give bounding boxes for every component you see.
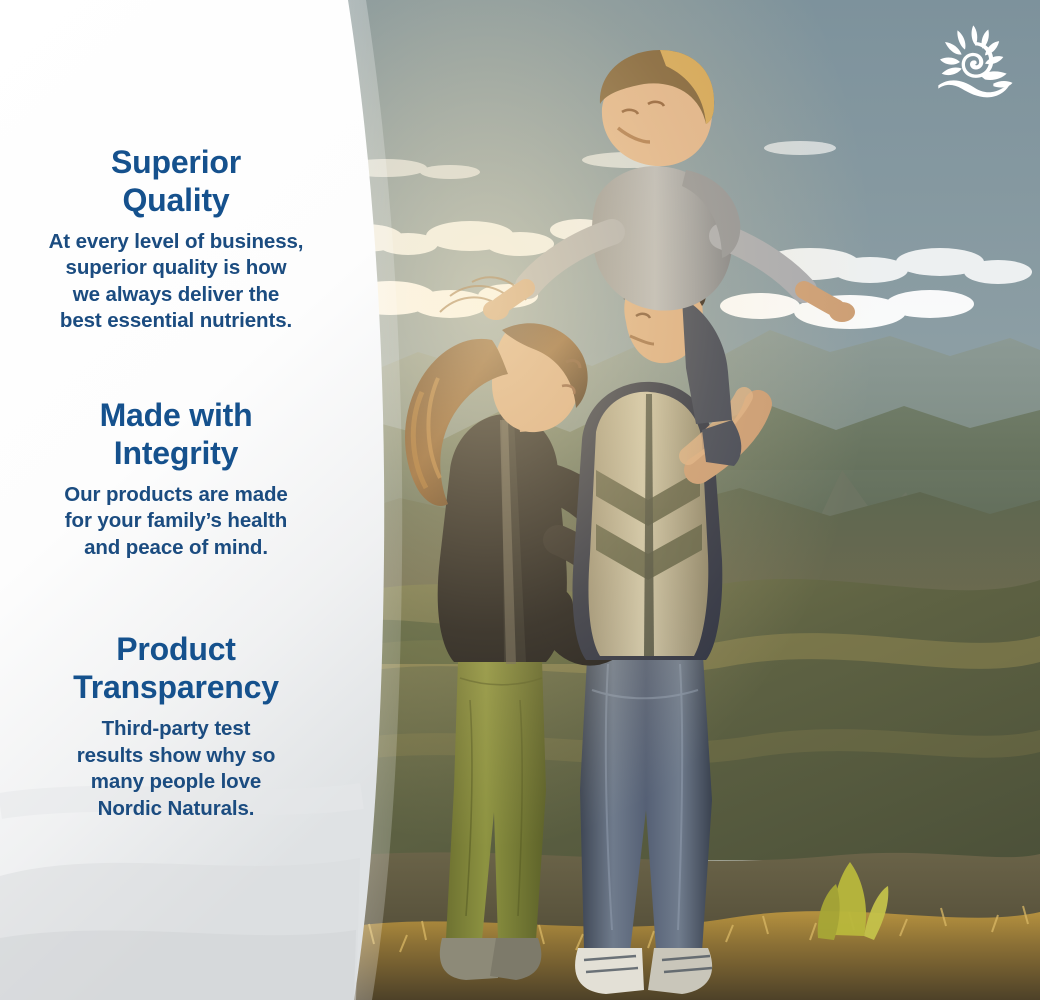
body-superior-quality: At every level of business, superior qua…	[16, 229, 336, 336]
body-line: many people love	[16, 769, 336, 796]
heading-line: Transparency	[16, 669, 336, 707]
heading-line: Superior	[16, 144, 336, 182]
heading-made-with-integrity: Made with Integrity	[16, 397, 336, 473]
body-line: we always deliver the	[16, 282, 336, 309]
value-props-column: Superior Quality At every level of busin…	[0, 0, 352, 1000]
heading-line: Integrity	[16, 435, 336, 473]
heading-product-transparency: Product Transparency	[16, 631, 336, 707]
body-line: At every level of business,	[16, 229, 336, 256]
body-line: best essential nutrients.	[16, 308, 336, 335]
family-mountain-photo	[330, 0, 1040, 1000]
body-made-with-integrity: Our products are made for your family’s …	[16, 482, 336, 562]
body-line: results show why so	[16, 743, 336, 770]
body-line: superior quality is how	[16, 255, 336, 282]
heading-superior-quality: Superior Quality	[16, 144, 336, 220]
value-block-superior-quality: Superior Quality At every level of busin…	[16, 144, 336, 335]
body-line: Third-party test	[16, 716, 336, 743]
heading-line: Made with	[16, 397, 336, 435]
heading-line: Product	[16, 631, 336, 669]
heading-line: Quality	[16, 182, 336, 220]
body-line: for your family’s health	[16, 508, 336, 535]
body-line: Our products are made	[16, 482, 336, 509]
sun-over-waves-logo	[932, 22, 1018, 102]
body-line: and peace of mind.	[16, 535, 336, 562]
value-block-made-with-integrity: Made with Integrity Our products are mad…	[16, 397, 336, 561]
value-block-product-transparency: Product Transparency Third-party test re…	[16, 631, 336, 822]
body-line: Nordic Naturals.	[16, 796, 336, 823]
marketing-banner: Superior Quality At every level of busin…	[0, 0, 1040, 1000]
body-product-transparency: Third-party test results show why so man…	[16, 716, 336, 823]
